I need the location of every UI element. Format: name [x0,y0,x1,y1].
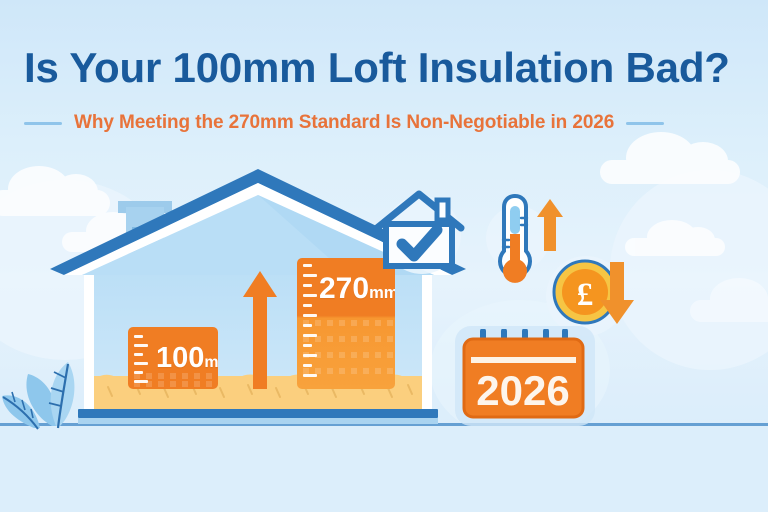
cloud-icon [690,300,768,322]
insulation-block-100mm: 100mm [128,327,218,389]
cost-down-arrow-icon [600,262,634,324]
block-270-unit: mm [369,284,395,302]
loft-floor-underside [78,418,438,424]
ground-plane [0,425,768,512]
cloud-icon [625,238,725,256]
pound-symbol: £ [577,277,594,313]
upgrade-arrow-icon [243,271,277,389]
block-100-label: 100mm [156,344,218,373]
house-check-icon[interactable] [371,188,467,270]
calendar-year: 2026 [476,367,569,414]
insulation-block-270mm: 270mm [297,258,395,389]
page-subtitle: Why Meeting the 270mm Standard Is Non-Ne… [74,112,614,134]
rule-left [24,122,62,125]
block-270-label: 270mm [319,274,395,304]
page-title: Is Your 100mm Loft Insulation Bad? [24,46,744,90]
loft-floor-beam [78,409,438,418]
calendar-icon[interactable]: 2026 [461,329,586,419]
subtitle-row: Why Meeting the 270mm Standard Is Non-Ne… [24,112,664,134]
thermometer-icon[interactable] [494,192,536,290]
ruler-ticks-270 [303,264,317,383]
ruler-ticks-100 [134,333,148,383]
block-100-value: 100 [156,342,204,374]
wall-left [84,255,94,415]
wall-right [422,255,432,415]
rule-right [626,122,664,125]
temperature-up-arrow-icon [537,199,563,251]
infographic-canvas: Is Your 100mm Loft Insulation Bad? Why M… [0,0,768,512]
cloud-icon [600,160,740,184]
block-270-value: 270 [319,272,369,305]
block-100-unit: mm [204,354,218,371]
